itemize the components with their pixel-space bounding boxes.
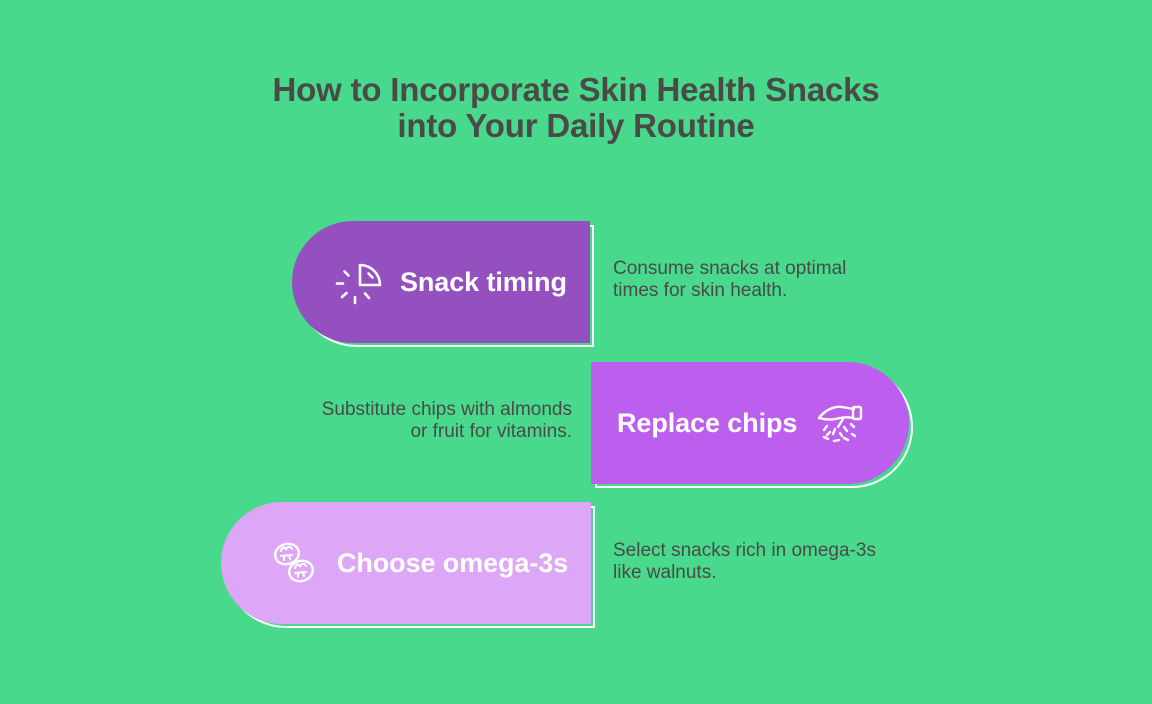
step-description-3-line-1: Select snacks rich in omega-3s — [613, 540, 913, 562]
step-description-2-line-2: or fruit for vitamins. — [272, 421, 572, 443]
step-description-1-line-2: times for skin health. — [613, 280, 913, 302]
step-label-1: Snack timing — [400, 267, 567, 298]
step-pill-3-wrapper: Choose omega-3s — [221, 502, 591, 624]
page-title: How to Incorporate Skin Health Snacks in… — [0, 72, 1152, 144]
step-label-3: Choose omega-3s — [337, 548, 568, 579]
step-description-3: Select snacks rich in omega-3s like waln… — [613, 540, 913, 584]
hand-sprinkle-icon — [813, 396, 867, 450]
step-description-3-line-2: like walnuts. — [613, 562, 913, 584]
infographic-canvas: How to Incorporate Skin Health Snacks in… — [0, 0, 1152, 704]
step-pill-3[interactable]: Choose omega-3s — [221, 502, 591, 624]
step-row-1: Snack timing — [0, 217, 1152, 347]
step-pill-1-wrapper: Snack timing — [292, 221, 590, 343]
page-title-line-1: How to Incorporate Skin Health Snacks — [0, 72, 1152, 108]
step-description-1-line-1: Consume snacks at optimal — [613, 258, 913, 280]
step-row-3: Choose omega-3s — [0, 498, 1152, 628]
step-label-2: Replace chips — [617, 408, 797, 439]
page-title-line-2: into Your Daily Routine — [0, 108, 1152, 144]
step-pill-1[interactable]: Snack timing — [292, 221, 590, 343]
step-pill-2-wrapper: Replace chips — [591, 362, 909, 484]
timer-quarter-icon — [330, 255, 384, 309]
step-row-2: Replace chips — [0, 358, 1152, 488]
step-description-1: Consume snacks at optimal times for skin… — [613, 258, 913, 302]
step-description-2: Substitute chips with almonds or fruit f… — [272, 399, 572, 443]
walnut-halves-icon — [267, 536, 321, 590]
step-description-2-line-1: Substitute chips with almonds — [272, 399, 572, 421]
step-pill-2[interactable]: Replace chips — [591, 362, 909, 484]
